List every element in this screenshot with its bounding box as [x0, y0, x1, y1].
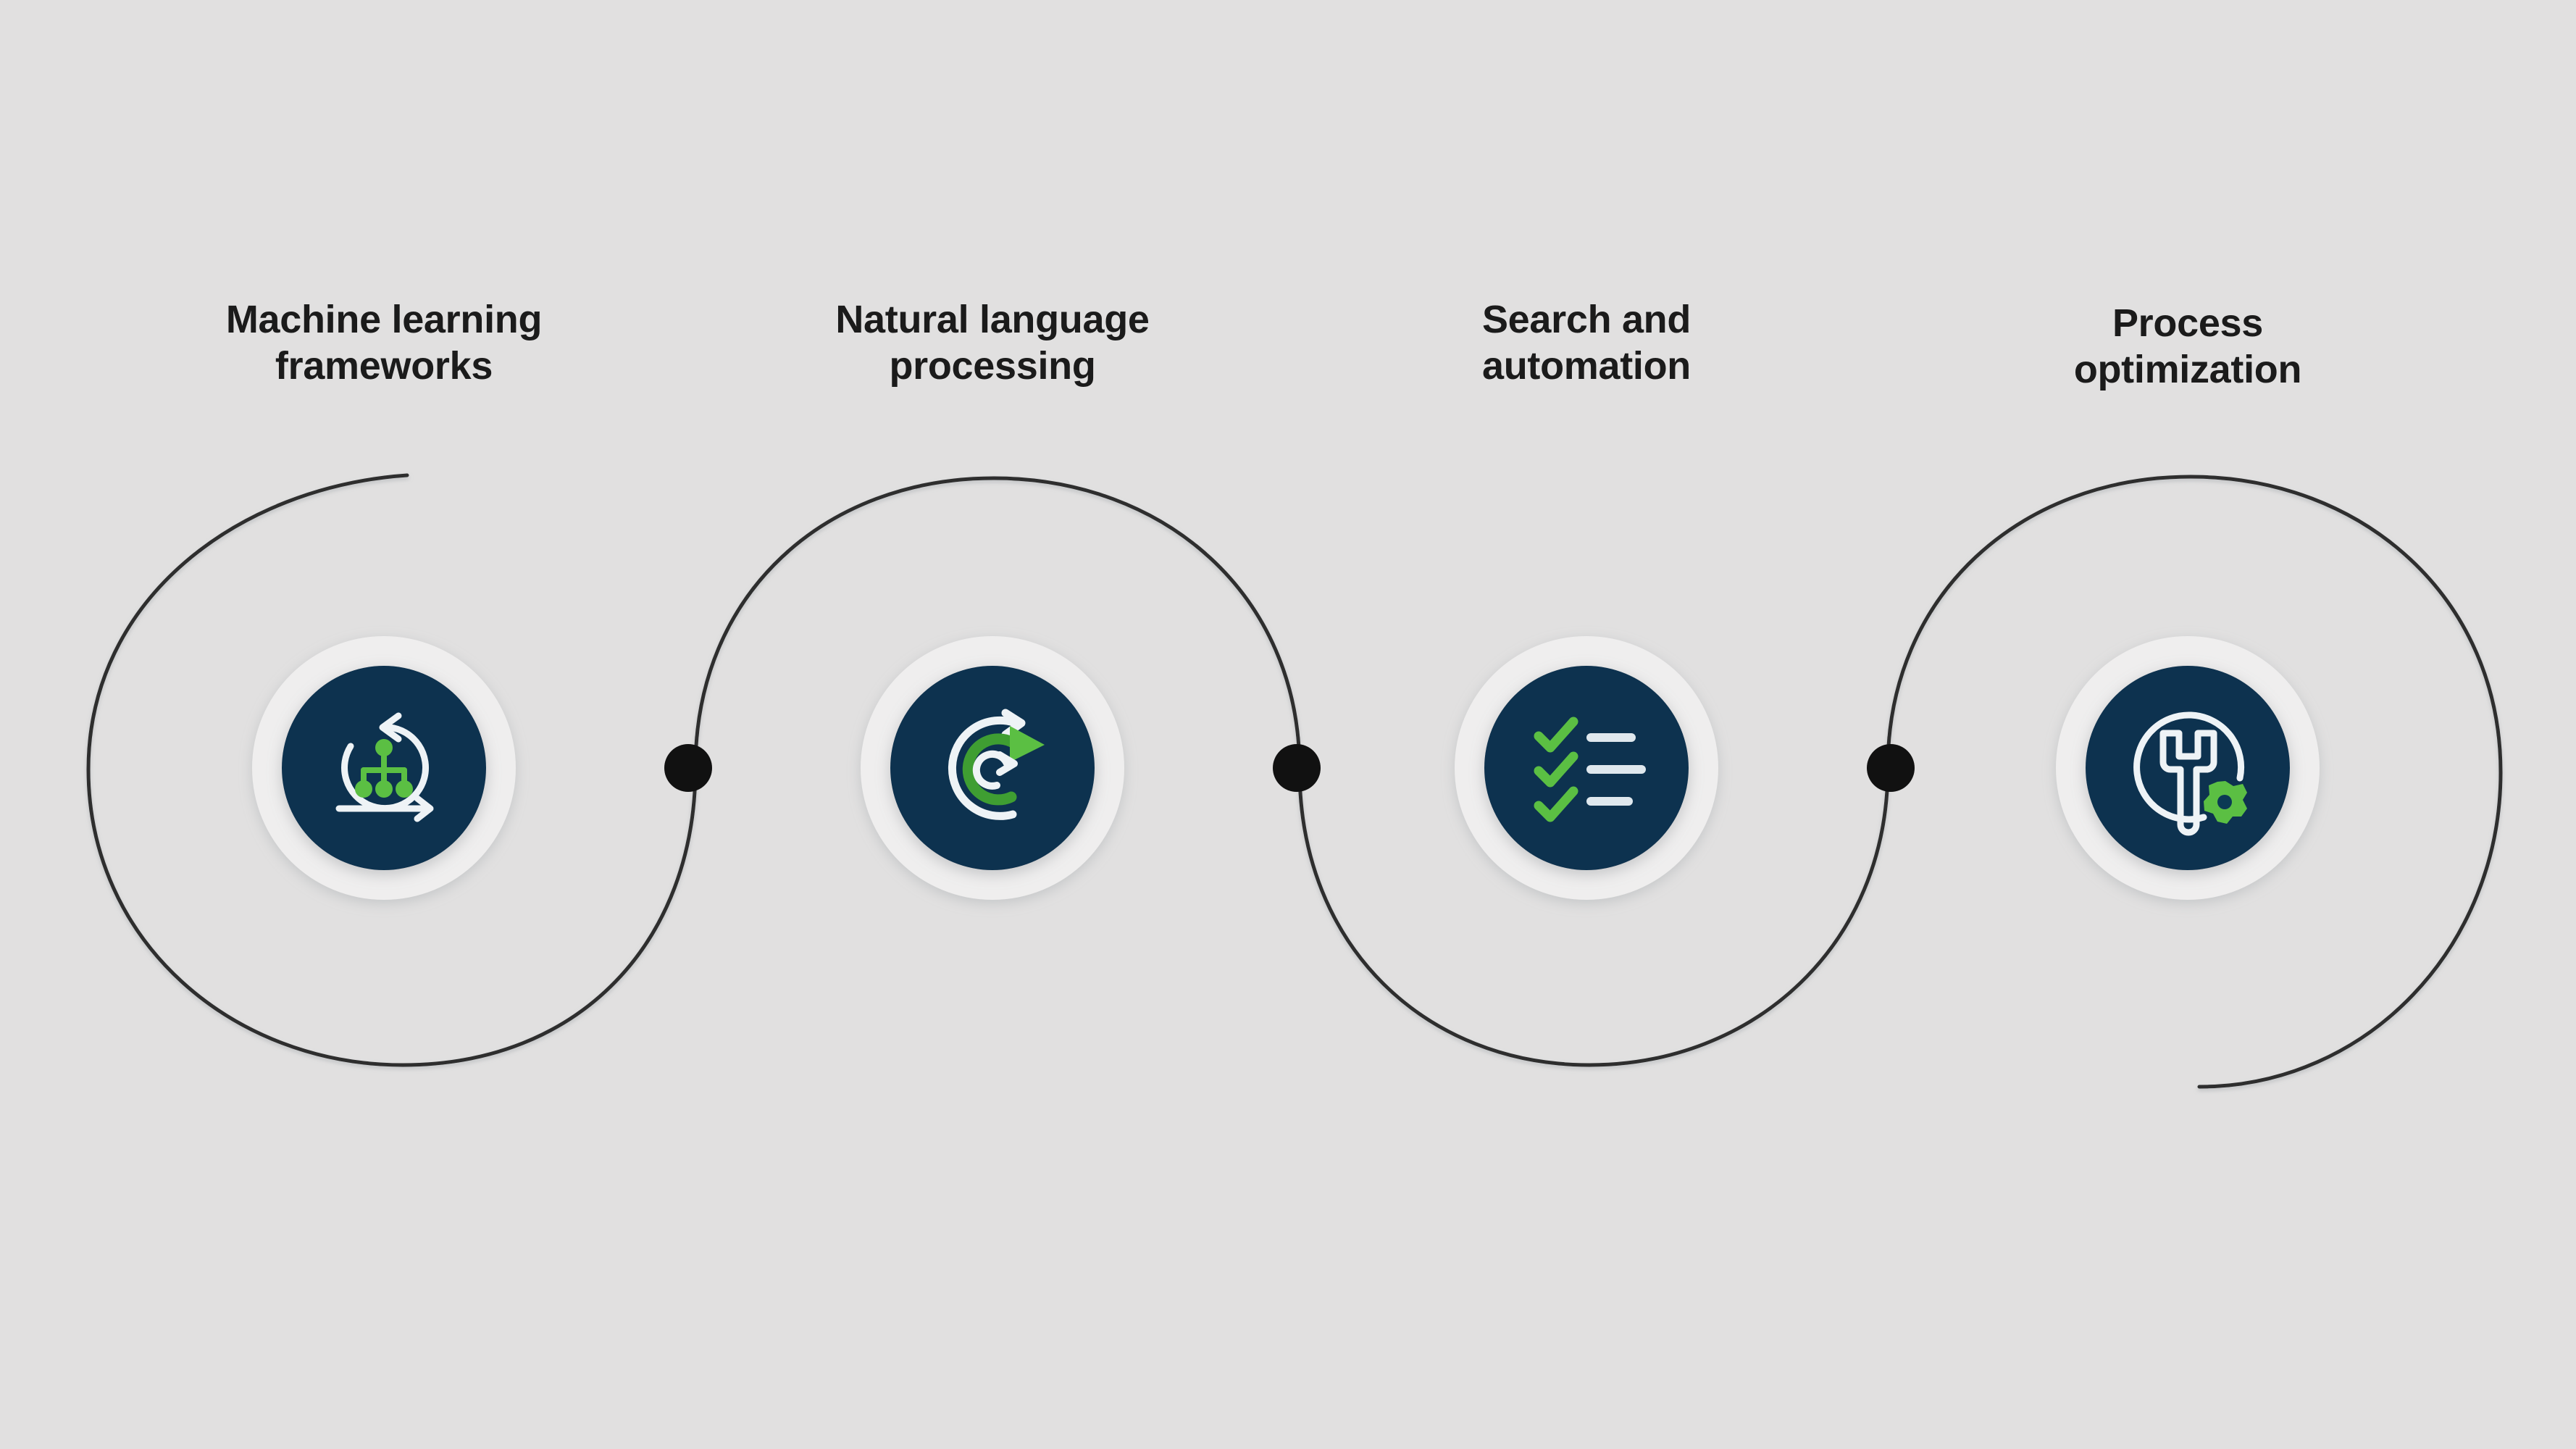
- connector-dot-3-4: [1867, 744, 1915, 792]
- step-disc-4[interactable]: [2086, 666, 2290, 870]
- step-label-4: Process optimization: [1927, 301, 2449, 393]
- infographic-stage: Machine learning frameworks Natural lang…: [0, 0, 2576, 1449]
- connector-dot-1-2: [664, 744, 712, 792]
- step-label-1: Machine learning frameworks: [123, 297, 645, 389]
- process-flow-diagram: [0, 0, 2576, 1449]
- connector-dot-group: [664, 744, 1915, 792]
- step-label-2: Natural language processing: [732, 297, 1253, 389]
- connector-dot-2-3: [1273, 744, 1321, 792]
- step-label-3: Search and automation: [1326, 297, 1847, 389]
- step-disc-2[interactable]: [890, 666, 1095, 870]
- step-disc-3[interactable]: [1484, 666, 1689, 870]
